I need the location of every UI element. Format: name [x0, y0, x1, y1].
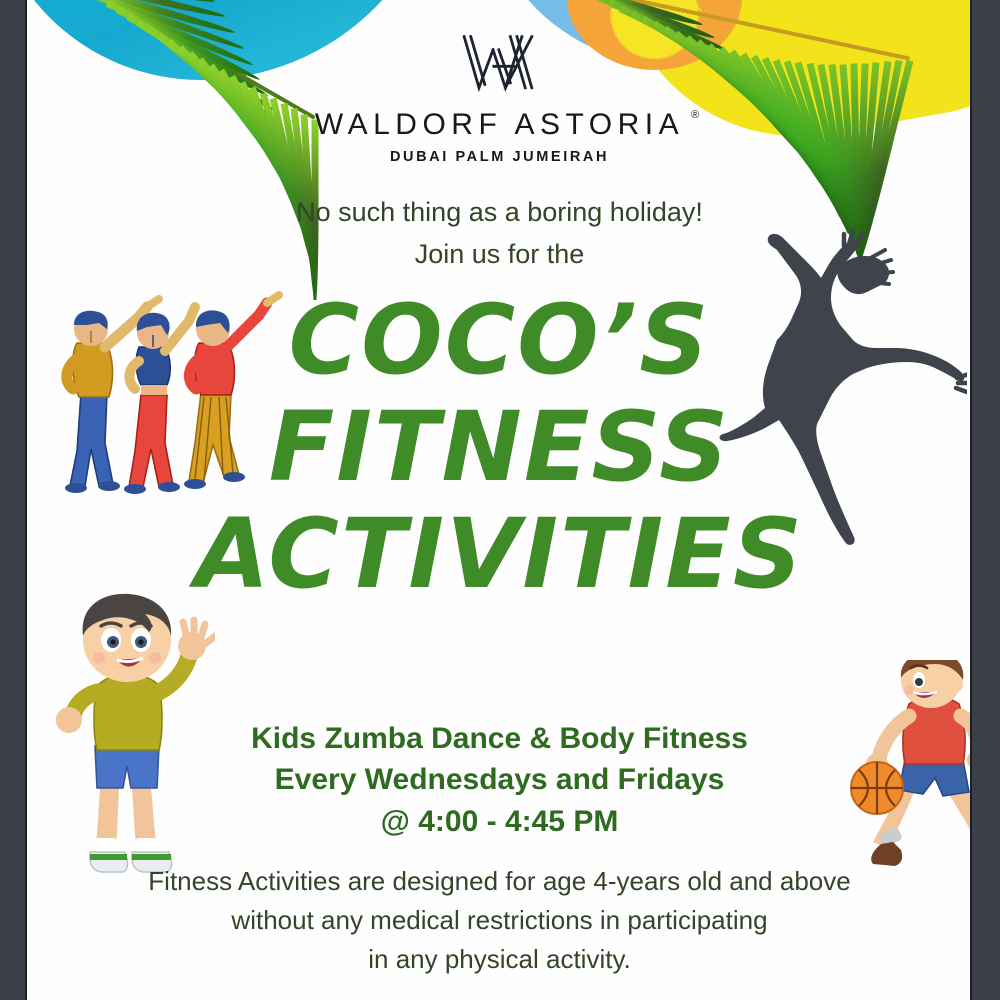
page-title: COCO’S FITNESS ACTIVITIES — [27, 295, 972, 601]
brand-logo: WALDORF ASTORIA ® DUBAI PALM JUMEIRAH — [27, 30, 972, 165]
kicker-text: No such thing as a boring holiday! Join … — [27, 192, 972, 276]
fine-print-line-1: Fitness Activities are designed for age … — [27, 862, 972, 901]
frond-leaflet — [75, 0, 226, 20]
brand-location: DUBAI PALM JUMEIRAH — [27, 149, 972, 165]
event-details: Kids Zumba Dance & Body Fitness Every We… — [27, 718, 972, 842]
frond-leaflet — [586, 0, 703, 28]
frond-leaflet — [65, 0, 216, 4]
fine-print: Fitness Activities are designed for age … — [27, 862, 972, 979]
registered-mark: ® — [691, 109, 699, 121]
frame-bar-right — [972, 0, 1000, 1000]
brand-name-text: WALDORF ASTORIA — [315, 108, 684, 141]
wa-monogram-icon — [446, 30, 553, 96]
fine-print-line-3: in any physical activity. — [27, 940, 972, 979]
title-line-3: ACTIVITIES — [27, 509, 972, 600]
fine-print-line-2: without any medical restrictions in part… — [27, 901, 972, 940]
title-line-2: FITNESS — [27, 402, 972, 493]
poster-page: WALDORF ASTORIA ® DUBAI PALM JUMEIRAH No… — [27, 0, 972, 1000]
poster-canvas: WALDORF ASTORIA ® DUBAI PALM JUMEIRAH No… — [0, 0, 1000, 1000]
title-line-1: COCO’S — [27, 295, 972, 386]
event-time: @ 4:00 - 4:45 PM — [27, 801, 972, 842]
kicker-line-2: Join us for the — [27, 234, 972, 276]
event-name: Kids Zumba Dance & Body Fitness — [27, 718, 972, 759]
frame-edge-left — [25, 0, 27, 1000]
kicker-line-1: No such thing as a boring holiday! — [27, 192, 972, 234]
frame-edge-right — [970, 0, 972, 1000]
sun-seam — [612, 0, 704, 21]
event-schedule: Every Wednesdays and Fridays — [27, 759, 972, 800]
frame-bar-left — [0, 0, 25, 1000]
brand-name: WALDORF ASTORIA ® — [315, 108, 684, 142]
